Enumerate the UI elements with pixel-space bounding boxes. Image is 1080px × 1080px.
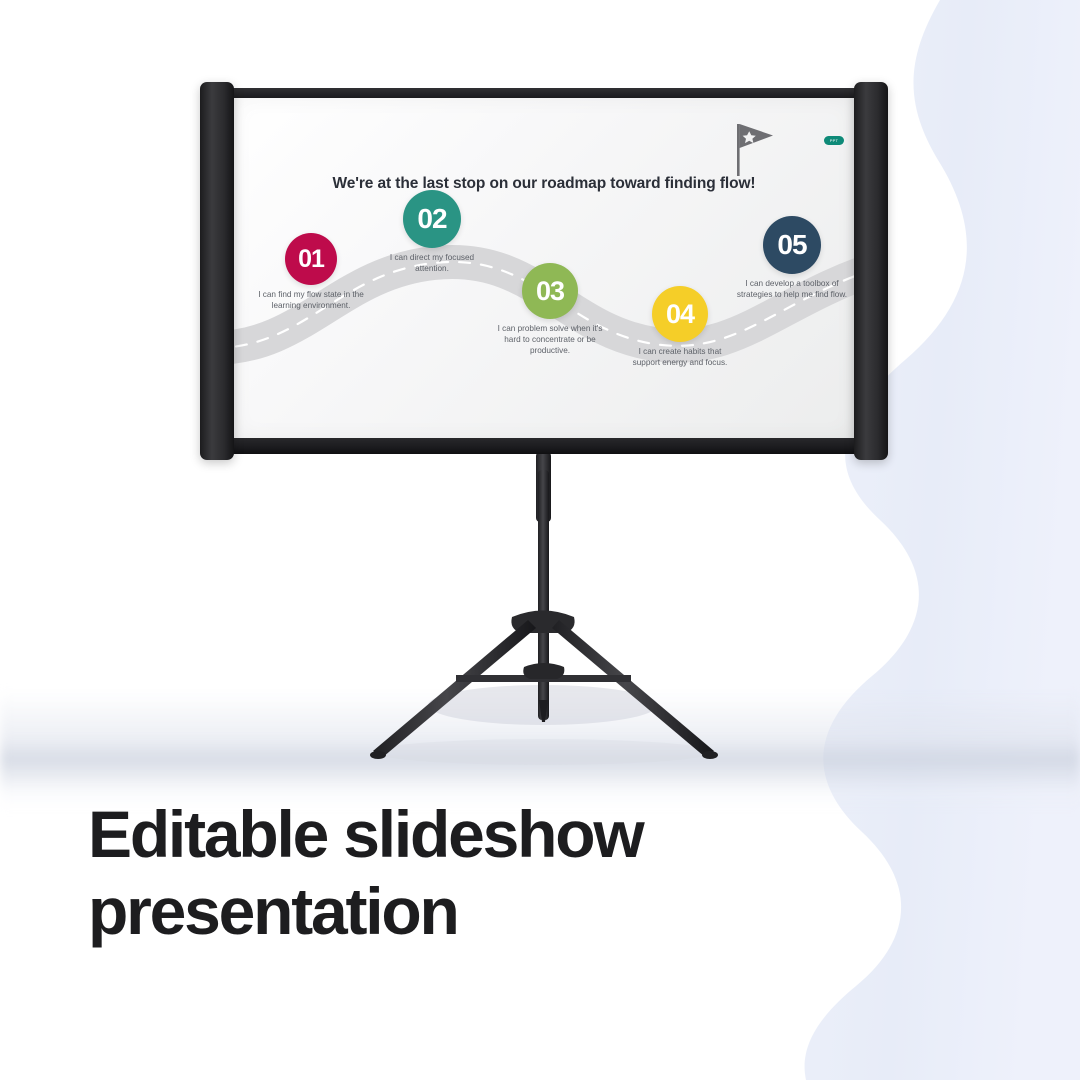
roadmap-step-01[interactable]: 01 I can find my flow state in the learn… [256, 233, 366, 312]
projector-screen: PPT We're at the last stop on our roadma… [200, 82, 888, 460]
slideshow-mockup-canvas: PPT We're at the last stop on our roadma… [0, 0, 1080, 1080]
step-02-bubble: 02 [403, 190, 461, 248]
step-01-number: 01 [298, 245, 324, 274]
screen-bottom-bar [226, 436, 862, 454]
roadmap-step-05[interactable]: 05 I can develop a toolbox of strategies… [734, 216, 850, 301]
step-03-bubble: 03 [522, 263, 578, 319]
headline-line-2: presentation [88, 873, 788, 950]
screen-left-post [200, 82, 234, 460]
roadmap-step-03[interactable]: 03 I can problem solve when it's hard to… [492, 263, 608, 356]
slide-badge: PPT [824, 136, 844, 145]
roadmap-step-02[interactable]: 02 I can direct my focused attention. [376, 190, 488, 275]
step-03-text: I can problem solve when it's hard to co… [492, 324, 608, 356]
step-03-number: 03 [536, 276, 564, 307]
slide-canvas[interactable]: PPT We're at the last stop on our roadma… [234, 98, 854, 438]
step-02-number: 02 [417, 203, 446, 235]
step-05-bubble: 05 [763, 216, 821, 274]
step-01-text: I can find my flow state in the learning… [256, 290, 366, 312]
flag-with-star-icon [721, 118, 775, 176]
roadmap-step-04[interactable]: 04 I can create habits that support ener… [624, 286, 736, 369]
step-04-text: I can create habits that support energy … [624, 347, 736, 369]
screen-right-post [854, 82, 888, 460]
headline-line-1: Editable slideshow [88, 797, 643, 871]
step-04-bubble: 04 [652, 286, 708, 342]
page-headline: Editable slideshow presentation [88, 796, 788, 949]
step-05-text: I can develop a toolbox of strategies to… [734, 279, 850, 301]
slide-title: We're at the last stop on our roadmap to… [234, 174, 854, 195]
step-05-number: 05 [777, 229, 806, 261]
step-01-bubble: 01 [285, 233, 337, 285]
step-04-number: 04 [666, 299, 694, 330]
step-02-text: I can direct my focused attention. [376, 253, 488, 275]
